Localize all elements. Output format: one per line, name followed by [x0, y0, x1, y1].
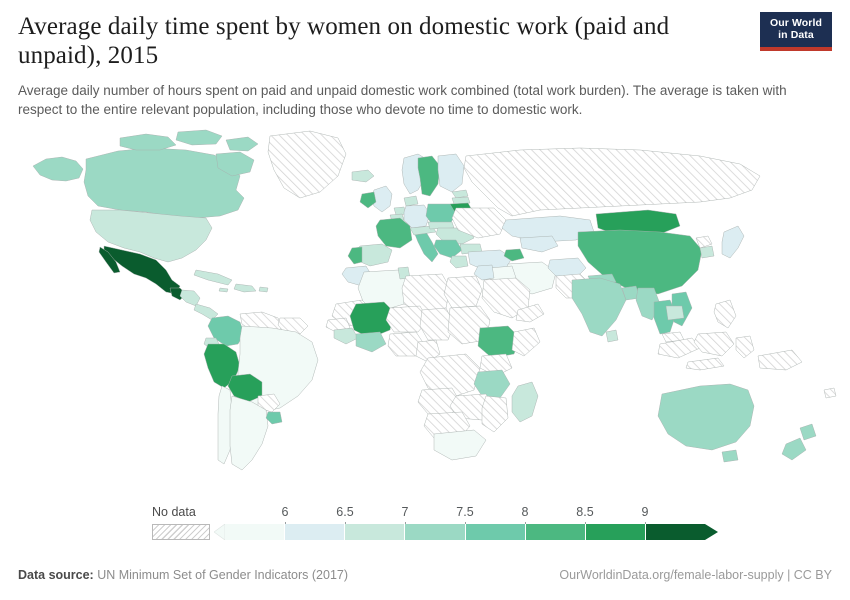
country-tanzania[interactable] [474, 370, 510, 398]
country-cuba[interactable] [194, 270, 232, 285]
legend-tick-labels: 66.577.588.59 [225, 505, 705, 523]
country-puerto-rico[interactable] [259, 287, 268, 292]
legend-bin-0[interactable] [225, 524, 285, 540]
chart-header: Average daily time spent by women on dom… [0, 0, 850, 119]
country-finland[interactable] [438, 154, 464, 192]
owid-map-chart: Average daily time spent by women on dom… [0, 0, 850, 600]
legend-tick-8: 8 [522, 505, 529, 519]
legend-tick-9: 9 [642, 505, 649, 519]
country-greece[interactable] [450, 256, 468, 268]
country-syria-levant[interactable] [474, 265, 494, 280]
country-cambodia-laos[interactable] [666, 306, 684, 320]
chart-footer: Data source: UN Minimum Set of Gender In… [0, 562, 850, 588]
legend-tick-7: 7 [402, 505, 409, 519]
country-russia[interactable] [464, 148, 760, 216]
country-philippines[interactable] [714, 300, 736, 328]
country-uzbekistan[interactable] [520, 236, 558, 252]
legend-bin-6[interactable] [586, 524, 646, 540]
country-fiji[interactable] [824, 388, 836, 398]
country-tasmania[interactable] [722, 450, 738, 462]
legend-cap-right [705, 524, 718, 540]
country-indonesia-sumatra[interactable] [658, 338, 700, 358]
country-iceland[interactable] [352, 170, 374, 182]
country-new-zealand-south[interactable] [782, 438, 806, 460]
legend-bin-3[interactable] [405, 524, 465, 540]
country-uruguay[interactable] [266, 412, 282, 424]
country-madagascar[interactable] [512, 382, 538, 422]
country-canada-arctic-3[interactable] [226, 137, 258, 151]
legend-bin-7[interactable] [646, 524, 705, 540]
owid-logo[interactable]: Our World in Data [760, 12, 832, 51]
country-south-korea[interactable] [700, 246, 714, 258]
country-alaska[interactable] [33, 157, 83, 181]
country-jamaica[interactable] [219, 288, 228, 292]
legend-bins [225, 524, 705, 540]
country-mozambique[interactable] [482, 396, 508, 432]
legend-color-bar[interactable] [225, 524, 705, 540]
data-source-label: Data source: [18, 568, 94, 582]
logo-line-1: Our World [766, 17, 826, 29]
logo-line-2: in Data [766, 29, 826, 41]
legend-tick-8.5: 8.5 [576, 505, 593, 519]
country-greenland[interactable] [268, 131, 346, 198]
country-south-africa[interactable] [434, 430, 486, 460]
no-data-swatch[interactable] [152, 524, 210, 540]
legend-bin-2[interactable] [345, 524, 405, 540]
legend-tick-6.5: 6.5 [336, 505, 353, 519]
country-portugal[interactable] [348, 247, 362, 264]
data-source-text: UN Minimum Set of Gender Indicators (201… [97, 568, 348, 582]
world-map[interactable] [0, 128, 850, 500]
country-canada-arctic-1[interactable] [120, 134, 176, 150]
legend-tick-6: 6 [282, 505, 289, 519]
data-source: Data source: UN Minimum Set of Gender In… [18, 568, 348, 582]
country-borneo[interactable] [694, 332, 734, 356]
country-italy[interactable] [414, 232, 438, 262]
country-estonia[interactable] [452, 190, 468, 198]
page-title: Average daily time spent by women on dom… [18, 12, 748, 70]
no-data-label: No data [152, 505, 196, 519]
country-canada-arctic-2[interactable] [176, 130, 222, 145]
country-poland[interactable] [426, 204, 456, 224]
map-legend: No data 66.577.588.59 [0, 505, 850, 553]
country-libya[interactable] [402, 274, 450, 312]
country-india[interactable] [572, 278, 626, 336]
country-japan[interactable] [722, 226, 744, 258]
country-new-zealand-north[interactable] [800, 424, 816, 440]
legend-bin-4[interactable] [466, 524, 526, 540]
chart-subtitle: Average daily number of hours spent on p… [18, 81, 808, 119]
legend-bin-1[interactable] [285, 524, 345, 540]
country-egypt[interactable] [444, 276, 482, 308]
country-denmark[interactable] [404, 196, 418, 206]
country-australia[interactable] [658, 384, 754, 450]
country-balkans[interactable] [434, 240, 462, 258]
country-papua-new-guinea[interactable] [758, 350, 802, 370]
legend-cap-left [214, 524, 225, 540]
legend-bin-5[interactable] [526, 524, 586, 540]
country-sweden[interactable] [418, 156, 440, 196]
country-honduras-nicaragua[interactable] [180, 290, 200, 306]
country-ireland[interactable] [360, 192, 376, 208]
license-link[interactable]: OurWorldinData.org/female-labor-supply |… [559, 568, 832, 582]
country-indonesia-java[interactable] [686, 358, 724, 370]
legend-tick-7.5: 7.5 [456, 505, 473, 519]
country-cote-divoire-ghana[interactable] [356, 332, 386, 352]
country-sulawesi[interactable] [736, 336, 754, 358]
country-sri-lanka[interactable] [606, 330, 618, 342]
country-somalia[interactable] [512, 328, 540, 356]
country-hispaniola[interactable] [234, 284, 256, 292]
